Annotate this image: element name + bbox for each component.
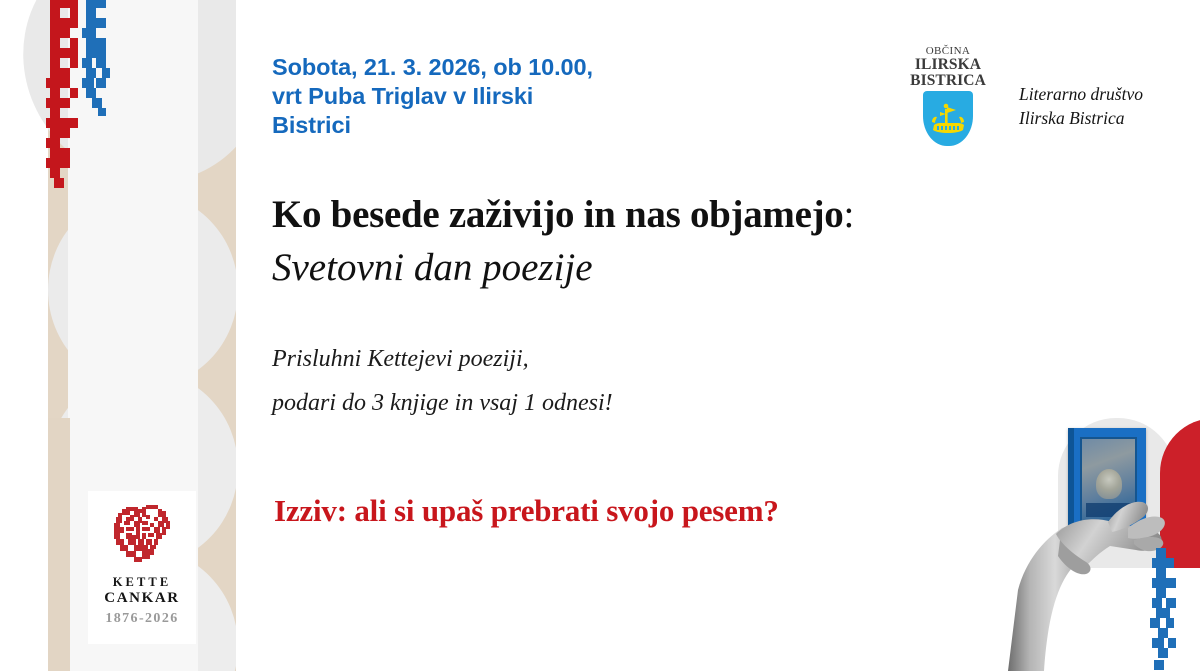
headline-italic-part: Svetovni dan poezije <box>272 246 593 289</box>
kette-cankar-heart-icon <box>108 503 176 565</box>
blue-pixel-stream <box>82 0 116 123</box>
datetime-line-1: Sobota, 21. 3. 2026, ob 10.00, <box>272 53 692 82</box>
description-line-2: podari do 3 knjige in vsaj 1 odnesi! <box>272 381 792 425</box>
description-line-1: Prisluhni Kettejevi poeziji, <box>272 337 792 381</box>
blue-pixel-stream-right <box>1142 548 1188 671</box>
beige-vertical-strip <box>48 418 70 671</box>
event-description: Prisluhni Kettejevi poeziji, podari do 3… <box>272 337 792 425</box>
argonaut-ship-icon <box>930 103 966 137</box>
kette-cankar-logo-card: KETTE CANKAR 1876-2026 <box>88 491 196 644</box>
municipality-logo: OBČINA ILIRSKA BISTRICA <box>900 46 996 146</box>
left-decorative-band: KETTE CANKAR 1876-2026 <box>0 0 236 671</box>
page-title: Ko besede zaživijo in nas objamejo: Svet… <box>272 188 922 294</box>
kette-label: KETTE <box>88 575 196 590</box>
headline-separator: : <box>844 193 855 236</box>
municipality-shield-icon <box>923 91 973 146</box>
kette-cankar-years: 1876-2026 <box>88 611 196 627</box>
municipality-wordmark: OBČINA ILIRSKA BISTRICA <box>900 46 996 89</box>
event-datetime-location: Sobota, 21. 3. 2026, ob 10.00, vrt Puba … <box>272 53 692 140</box>
challenge-text: Izziv: ali si upaš prebrati svojo pesem? <box>274 492 1034 530</box>
datetime-line-2: vrt Puba Triglav v Ilirski <box>272 82 692 111</box>
municipality-line-2: ILIRSKA <box>900 57 996 73</box>
kette-cankar-wordmark: KETTE CANKAR <box>88 575 196 607</box>
cankar-label: CANKAR <box>88 590 196 607</box>
headline-bold-part: Ko besede zaživijo in nas objamejo <box>272 193 844 236</box>
municipality-line-3: BISTRICA <box>900 73 996 89</box>
right-decorative-art <box>1000 0 1200 671</box>
poster-canvas: KETTE CANKAR 1876-2026 Sobota, 21. 3. 20… <box>0 0 1200 671</box>
datetime-line-3: Bistrici <box>272 111 692 140</box>
poster-content: Sobota, 21. 3. 2026, ob 10.00, vrt Puba … <box>272 0 892 671</box>
